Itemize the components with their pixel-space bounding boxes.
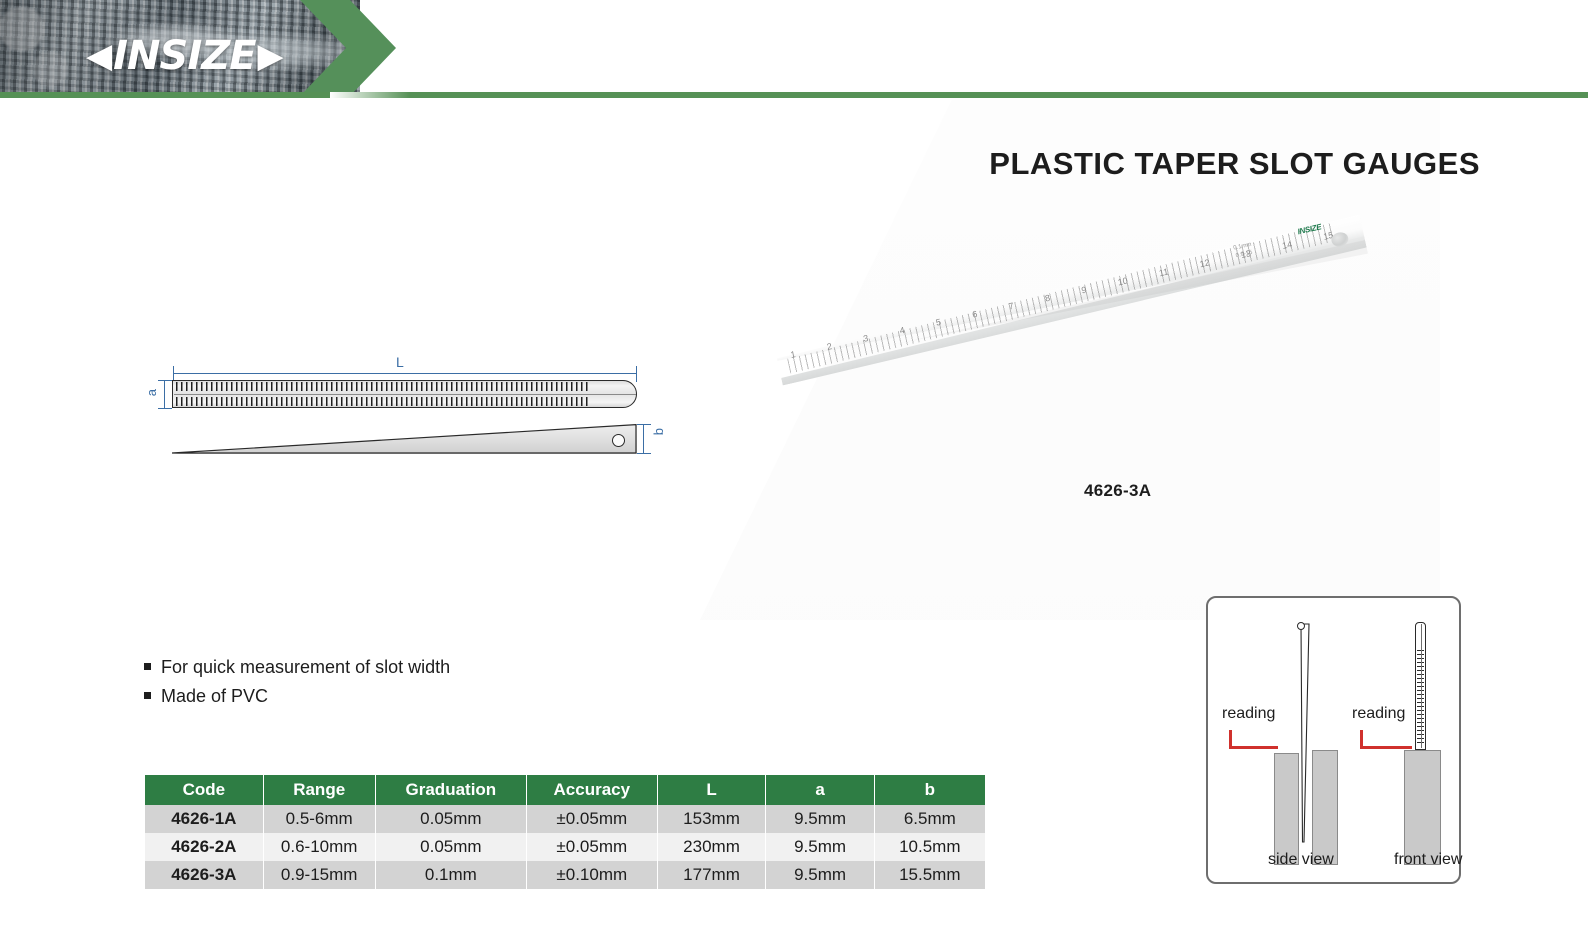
table-row: 4626-3A 0.9-15mm 0.1mm ±0.10mm 177mm 9.5… [145, 861, 985, 889]
logo-arrow-right-icon: ▶ [258, 39, 283, 73]
cell-a: 9.5mm [766, 861, 874, 889]
side-view-workpiece-left [1274, 753, 1299, 865]
specification-table: Code Range Graduation Accuracy L a b 462… [145, 775, 985, 889]
gauge-number: 5 [935, 317, 944, 338]
header-green-divider [0, 92, 1588, 98]
feature-text: Made of PVC [161, 684, 268, 708]
side-view-hole [1297, 622, 1305, 630]
gauge-number: 14 [1281, 239, 1294, 261]
front-view-reading-leader-horizontal [1360, 746, 1412, 749]
side-view-reading-leader-vertical [1229, 730, 1232, 748]
front-view-label: front view [1394, 851, 1462, 869]
cell-b: 15.5mm [874, 861, 985, 889]
header-green-divider-fade [330, 92, 410, 98]
dimension-line-a [164, 380, 165, 408]
cell-b: 6.5mm [874, 805, 985, 833]
product-photo: 1 2 3 4 5 6 7 8 9 10 11 12 13 14 15 0.1m… [760, 248, 1420, 484]
gauge-drawing-centerline [174, 394, 636, 395]
gauge-drawing-ticks-upper [176, 382, 588, 391]
logo-arrow-left-icon: ◀ [86, 39, 111, 73]
page-header: ◀INSIZE▶ [0, 0, 1588, 96]
front-view-reading-label: reading [1352, 705, 1405, 723]
gauge-scale-numbers: 1 2 3 4 5 6 7 8 9 10 11 12 13 14 15 [790, 230, 1336, 370]
column-header-a: a [766, 775, 874, 805]
dimension-tick-a-bottom [158, 408, 172, 409]
gauge-number: 7 [1008, 301, 1017, 322]
gauge-number: 12 [1199, 257, 1212, 279]
feature-item: For quick measurement of slot width [144, 655, 450, 679]
column-header-code: Code [145, 775, 263, 805]
gauge-drawing-ticks-lower [176, 397, 588, 406]
bullet-square-icon [144, 692, 151, 699]
column-header-b: b [874, 775, 985, 805]
gauge-number: 11 [1158, 266, 1171, 288]
front-view-blade-centerline [1421, 624, 1422, 748]
gauge-number: 9 [1081, 285, 1090, 306]
feature-list: For quick measurement of slot width Made… [144, 655, 450, 714]
gauge-number: 6 [971, 309, 980, 330]
logo-wordmark: INSIZE [113, 33, 255, 79]
usage-diagram-box: reading side view reading front view [1206, 596, 1461, 884]
gauge-number: 3 [862, 333, 871, 354]
feature-text: For quick measurement of slot width [161, 655, 450, 679]
cell-l: 230mm [657, 833, 766, 861]
side-view-label: side view [1268, 851, 1334, 869]
side-view-reading-leader-horizontal [1229, 746, 1278, 749]
gauge-number: 2 [826, 341, 835, 362]
gauge-number: 10 [1117, 275, 1130, 297]
side-view-reading-label: reading [1222, 705, 1275, 723]
cell-l: 153mm [657, 805, 766, 833]
cell-code: 4626-3A [145, 861, 263, 889]
cell-graduation: 0.1mm [375, 861, 526, 889]
gauge-number: 4 [899, 325, 908, 346]
cell-code: 4626-2A [145, 833, 263, 861]
cell-code: 4626-1A [145, 805, 263, 833]
wedge-hanging-hole [612, 434, 625, 447]
cell-b: 10.5mm [874, 833, 985, 861]
front-view-workpiece [1404, 750, 1441, 865]
front-view-reading-leader-vertical [1360, 730, 1363, 748]
dimension-tick-L-right [636, 366, 637, 382]
cell-a: 9.5mm [766, 833, 874, 861]
cell-accuracy: ±0.05mm [527, 805, 658, 833]
table-row: 4626-1A 0.5-6mm 0.05mm ±0.05mm 153mm 9.5… [145, 805, 985, 833]
dimension-tick-b-top [637, 424, 651, 425]
feature-item: Made of PVC [144, 684, 450, 708]
bullet-square-icon [144, 663, 151, 670]
cell-range: 0.9-15mm [263, 861, 375, 889]
cell-range: 0.5-6mm [263, 805, 375, 833]
cell-range: 0.6-10mm [263, 833, 375, 861]
column-header-l: L [657, 775, 766, 805]
table-header-row: Code Range Graduation Accuracy L a b [145, 775, 985, 805]
column-header-accuracy: Accuracy [527, 775, 658, 805]
gauge-number: 8 [1044, 293, 1053, 314]
side-view-workpiece-right [1312, 750, 1338, 865]
dimension-tick-b-bottom [637, 453, 651, 454]
cell-graduation: 0.05mm [375, 805, 526, 833]
column-header-range: Range [263, 775, 375, 805]
cell-l: 177mm [657, 861, 766, 889]
table-row: 4626-2A 0.6-10mm 0.05mm ±0.05mm 230mm 9.… [145, 833, 985, 861]
insize-logo: ◀INSIZE▶ [86, 33, 283, 79]
cell-a: 9.5mm [766, 805, 874, 833]
cell-accuracy: ±0.05mm [527, 833, 658, 861]
dimension-tick-a-top [158, 380, 172, 381]
dimension-label-b: b [651, 428, 666, 435]
dimension-label-a: a [144, 389, 159, 396]
page-title: PLASTIC TAPER SLOT GAUGES [989, 146, 1480, 182]
product-caption: 4626-3A [1084, 481, 1151, 501]
dimension-line-b [643, 424, 644, 454]
gauge-side-view-drawing [172, 424, 637, 454]
cell-accuracy: ±0.10mm [527, 861, 658, 889]
dimension-label-L: L [396, 354, 404, 370]
wedge-outline [172, 424, 637, 454]
dimension-line-L [173, 373, 637, 374]
cell-graduation: 0.05mm [375, 833, 526, 861]
column-header-graduation: Graduation [375, 775, 526, 805]
